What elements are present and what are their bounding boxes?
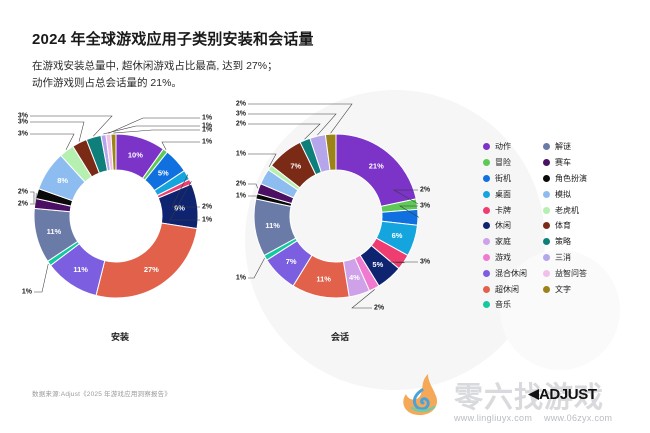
legend-item-模拟[interactable]: 模拟 — [543, 187, 587, 201]
legend-column-1: 动作冒险街机桌面卡牌休闲家庭游戏混合休闲超休闲音乐 — [483, 140, 527, 312]
legend-item-音乐[interactable]: 音乐 — [483, 298, 527, 312]
pie-slice-超休闲[interactable] — [96, 223, 197, 298]
legend-dot-icon — [483, 175, 490, 182]
slice-value-label: 6% — [392, 231, 403, 240]
callout-音乐: 1% — [22, 264, 48, 296]
callout-value-label: 2% — [420, 187, 431, 194]
page-subtitle: 在游戏安装总量中, 超休闲游戏占比最高, 达到 27%；动作游戏则占总会话量的 … — [32, 58, 362, 93]
legend-dot-icon — [543, 286, 550, 293]
callout-value-label: 3% — [18, 113, 29, 120]
triangle-icon — [528, 389, 539, 400]
legend-item-label: 音乐 — [495, 299, 511, 310]
slice-value-label: 21% — [369, 162, 384, 171]
callout-老虎机: 3% — [18, 131, 74, 150]
donut-chart-sessions: 21%6%5%4%11%7%11%7%2%3%3%2%1%1%2%1%2%3%2… — [232, 112, 447, 327]
legend-item-label: 体育 — [555, 220, 571, 231]
legend: 动作冒险街机桌面卡牌休闲家庭游戏混合休闲超休闲音乐 解谜赛车角色扮演模拟老虎机体… — [483, 140, 643, 312]
legend-dot-icon — [543, 270, 550, 277]
legend-dot-icon — [483, 222, 490, 229]
donut-chart-installs: 10%5%9%27%11%11%8%1%2%1%1%2%2%3%3%3%1%1%… — [12, 112, 227, 327]
watermark-url-1: www.lingliuyx.com — [454, 413, 532, 423]
legend-dot-icon — [543, 159, 550, 166]
legend-item-混合休闲[interactable]: 混合休闲 — [483, 266, 527, 280]
legend-item-游戏[interactable]: 游戏 — [483, 251, 527, 265]
callout-value-label: 1% — [22, 289, 33, 296]
callout-value-label: 1% — [202, 127, 213, 134]
adjust-logo: ADJUST — [527, 386, 597, 403]
legend-item-label: 角色扮演 — [555, 173, 587, 184]
legend-item-策略[interactable]: 策略 — [543, 235, 587, 249]
callout-策略: 2% — [236, 121, 320, 140]
legend-item-label: 家庭 — [495, 236, 511, 247]
legend-item-label: 动作 — [495, 141, 511, 152]
legend-dot-icon — [543, 222, 550, 229]
page-subtitle-line-1: 动作游戏则占总会话量的 21%。 — [32, 75, 362, 92]
legend-dot-icon — [543, 191, 550, 198]
legend-item-家庭[interactable]: 家庭 — [483, 235, 527, 249]
legend-item-label: 益智问答 — [555, 268, 587, 279]
slice-value-label: 7% — [286, 257, 297, 266]
legend-dot-icon — [543, 207, 550, 214]
watermark: 零六找游戏 www.lingliuyx.com www.06zyx.com AD… — [398, 372, 642, 427]
page-title: 2024 年全球游戏应用子类别安装和会话量 — [32, 28, 314, 49]
legend-item-label: 超休闲 — [495, 284, 519, 295]
callout-value-label: 2% — [202, 204, 213, 211]
legend-dot-icon — [543, 143, 550, 150]
legend-item-动作[interactable]: 动作 — [483, 140, 527, 154]
callout-冒险: 1% — [162, 139, 213, 150]
callout-value-label: 1% — [202, 115, 213, 122]
legend-item-label: 桌面 — [495, 189, 511, 200]
legend-item-解谜[interactable]: 解谜 — [543, 140, 587, 154]
callout-策略: 3% — [18, 113, 112, 137]
slice-value-label: 10% — [128, 151, 143, 160]
callout-益智问答: 1% — [108, 115, 213, 134]
callout-角色扮演: 1% — [236, 193, 258, 200]
legend-dot-icon — [543, 238, 550, 245]
legend-item-label: 混合休闲 — [495, 268, 527, 279]
callout-value-label: 1% — [236, 151, 247, 158]
callout-value-label: 1% — [202, 217, 213, 224]
watermark-url-2: www.06zyx.com — [544, 413, 612, 423]
callout-value-label: 2% — [374, 305, 385, 312]
legend-item-label: 文字 — [555, 284, 571, 295]
slice-value-label: 27% — [144, 265, 159, 274]
slice-value-label: 11% — [265, 221, 280, 230]
callout-value-label: 3% — [420, 203, 431, 210]
legend-item-角色扮演[interactable]: 角色扮演 — [543, 172, 587, 186]
legend-item-冒险[interactable]: 冒险 — [483, 156, 527, 170]
slice-value-label: 11% — [316, 274, 331, 283]
slice-value-label: 8% — [57, 176, 68, 185]
slice-value-label: 5% — [372, 260, 383, 269]
legend-item-街机[interactable]: 街机 — [483, 172, 527, 186]
callout-value-label: 2% — [236, 121, 247, 128]
callout-赛车: 2% — [236, 181, 258, 189]
adjust-wordmark: ADJUST — [539, 386, 597, 403]
callout-value-label: 3% — [420, 259, 431, 266]
legend-dot-icon — [483, 191, 490, 198]
callout-三消: 3% — [236, 111, 336, 136]
callout-value-label: 1% — [202, 139, 213, 146]
callout-value-label: 2% — [236, 181, 247, 188]
legend-item-桌面[interactable]: 桌面 — [483, 187, 527, 201]
legend-dot-icon — [483, 270, 490, 277]
legend-item-体育[interactable]: 体育 — [543, 219, 587, 233]
legend-dot-icon — [483, 207, 490, 214]
callout-老虎机: 1% — [236, 151, 276, 167]
legend-dot-icon — [483, 286, 490, 293]
flame-logo-icon — [398, 372, 450, 418]
source-note: 数据来源:Adjust《2025 年游戏应用洞察报告》 — [32, 388, 171, 398]
callout-文字: 1% — [113, 127, 212, 134]
infographic-card: 2024 年全球游戏应用子类别安装和会话量 在游戏安装总量中, 超休闲游戏占比最… — [0, 0, 650, 433]
legend-item-文字[interactable]: 文字 — [543, 282, 587, 296]
legend-item-label: 模拟 — [555, 189, 571, 200]
callout-value-label: 2% — [18, 189, 29, 196]
slice-value-label: 11% — [73, 265, 88, 274]
legend-dot-icon — [483, 159, 490, 166]
legend-item-label: 解谜 — [555, 141, 571, 152]
donut-svg: 10%5%9%27%11%11%8%1%2%1%1%2%2%3%3%3%1%1%… — [12, 112, 227, 327]
legend-item-老虎机[interactable]: 老虎机 — [543, 203, 587, 217]
legend-item-label: 卡牌 — [495, 205, 511, 216]
legend-item-label: 游戏 — [495, 252, 511, 263]
watermark-urls: www.lingliuyx.com www.06zyx.com — [454, 413, 621, 423]
slice-value-label: 4% — [349, 273, 360, 282]
legend-dot-icon — [483, 254, 490, 261]
callout-value-label: 3% — [236, 111, 247, 118]
slice-value-label: 5% — [158, 168, 169, 177]
legend-item-益智问答[interactable]: 益智问答 — [543, 266, 587, 280]
legend-item-label: 老虎机 — [555, 205, 579, 216]
chart-caption-installs: 安装 — [90, 330, 150, 343]
legend-item-休闲[interactable]: 休闲 — [483, 219, 527, 233]
legend-item-label: 街机 — [495, 173, 511, 184]
callout-value-label: 1% — [236, 193, 247, 200]
legend-item-label: 休闲 — [495, 220, 511, 231]
legend-dot-icon — [543, 175, 550, 182]
legend-item-label: 三消 — [555, 252, 571, 263]
legend-item-三消[interactable]: 三消 — [543, 251, 587, 265]
legend-item-卡牌[interactable]: 卡牌 — [483, 203, 527, 217]
legend-item-赛车[interactable]: 赛车 — [543, 156, 587, 170]
legend-dot-icon — [483, 143, 490, 150]
callout-value-label: 2% — [236, 101, 247, 108]
legend-column-2: 解谜赛车角色扮演模拟老虎机体育策略三消益智问答文字 — [543, 140, 587, 312]
legend-item-超休闲[interactable]: 超休闲 — [483, 282, 527, 296]
legend-item-label: 策略 — [555, 236, 571, 247]
callout-value-label: 3% — [18, 131, 29, 138]
legend-dot-icon — [483, 301, 490, 308]
legend-item-label: 赛车 — [555, 157, 571, 168]
callout-value-label: 1% — [236, 275, 247, 282]
legend-dot-icon — [543, 254, 550, 261]
chart-caption-sessions: 会话 — [310, 330, 370, 343]
callout-value-label: 3% — [18, 119, 29, 126]
slice-value-label: 7% — [290, 162, 301, 171]
donut-svg: 21%6%5%4%11%7%11%7%2%3%3%2%1%1%2%1%2%3%2… — [232, 112, 447, 327]
legend-dot-icon — [483, 238, 490, 245]
slice-value-label: 11% — [47, 227, 62, 236]
callout-value-label: 2% — [18, 201, 29, 208]
legend-item-label: 冒险 — [495, 157, 511, 168]
page-subtitle-line-0: 在游戏安装总量中, 超休闲游戏占比最高, 达到 27%； — [32, 58, 362, 75]
slice-value-label: 9% — [174, 204, 185, 213]
callout-音乐: 1% — [236, 258, 265, 281]
